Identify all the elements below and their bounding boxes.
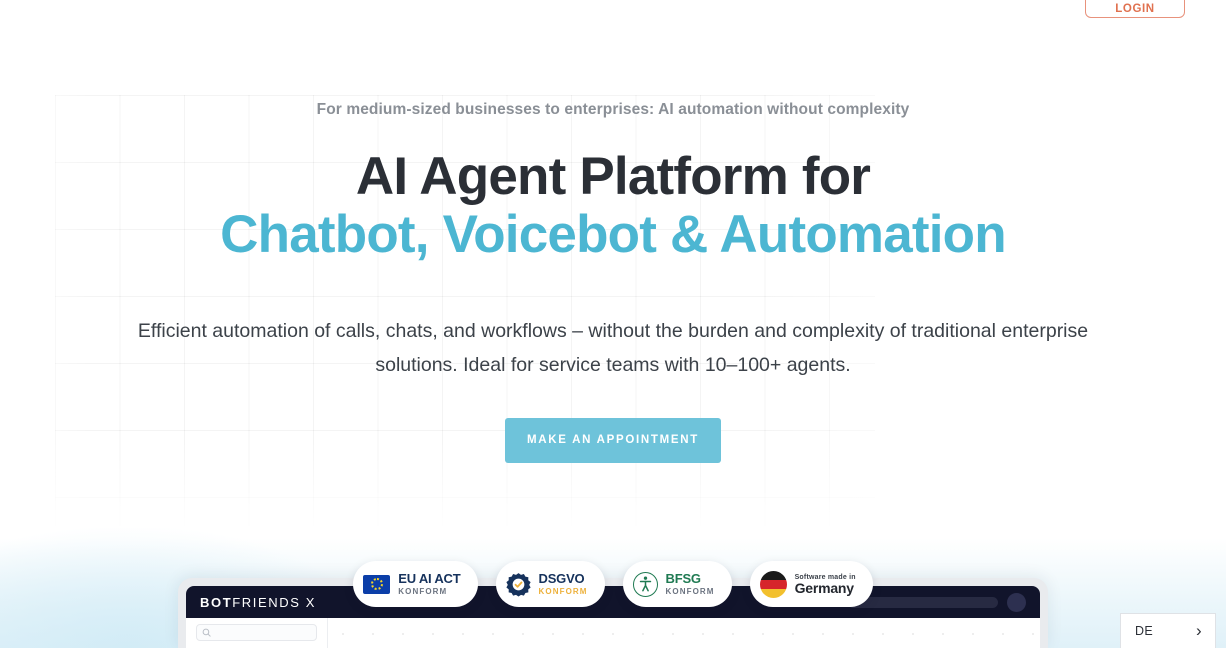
- mockup-body: [186, 618, 1040, 648]
- page-root: LOGIN For medium-sized businesses to ent…: [0, 0, 1226, 648]
- search-icon: [202, 628, 211, 637]
- badge-eu-ai-act: EU AI ACT KONFORM: [353, 561, 477, 607]
- accessibility-icon: [633, 572, 658, 597]
- badge-eu-ai-act-subtitle: KONFORM: [398, 588, 460, 596]
- language-switcher-label: DE: [1135, 624, 1153, 638]
- badge-made-in-germany: Software made in Germany: [750, 561, 873, 607]
- badge-bfsg-title: BFSG: [666, 572, 715, 586]
- mockup-canvas-dots: [328, 626, 1040, 648]
- headline-line-1: AI Agent Platform for: [356, 147, 870, 206]
- certification-badges: EU AI ACT KONFORM DSGVO KONFORM: [0, 561, 1226, 607]
- badge-bfsg: BFSG KONFORM: [623, 561, 732, 607]
- badge-dsgvo: DSGVO KONFORM: [496, 561, 605, 607]
- login-button-label: LOGIN: [1115, 3, 1154, 15]
- mockup-canvas: [328, 618, 1040, 648]
- gear-check-icon: [506, 572, 531, 597]
- badge-dsgvo-texts: DSGVO KONFORM: [539, 572, 588, 596]
- chevron-right-icon: ›: [1196, 621, 1202, 641]
- headline-line-2: Chatbot, Voicebot & Automation: [0, 206, 1226, 264]
- eu-flag-icon: [363, 575, 390, 594]
- badge-dsgvo-subtitle: KONFORM: [539, 588, 588, 596]
- hero-eyebrow: For medium-sized businesses to enterpris…: [0, 101, 1226, 119]
- mockup-search-input: [196, 624, 317, 641]
- page-title: AI Agent Platform for Chatbot, Voicebot …: [0, 148, 1226, 264]
- mockup-sidebar: [186, 618, 328, 648]
- badge-made-in-germany-title: Germany: [795, 581, 856, 596]
- badge-eu-ai-act-texts: EU AI ACT KONFORM: [398, 572, 460, 596]
- make-appointment-button[interactable]: MAKE AN APPOINTMENT: [505, 418, 721, 463]
- cta-container: MAKE AN APPOINTMENT: [0, 418, 1226, 463]
- german-flag-icon: [760, 571, 787, 598]
- badge-made-in-germany-texts: Software made in Germany: [795, 572, 856, 596]
- language-switcher[interactable]: DE ›: [1120, 613, 1216, 648]
- badge-bfsg-subtitle: KONFORM: [666, 588, 715, 596]
- hero-section: For medium-sized businesses to enterpris…: [0, 0, 1226, 463]
- badge-eu-ai-act-title: EU AI ACT: [398, 572, 460, 586]
- badge-bfsg-texts: BFSG KONFORM: [666, 572, 715, 596]
- login-button[interactable]: LOGIN: [1085, 0, 1185, 18]
- hero-subtitle: Efficient automation of calls, chats, an…: [123, 314, 1103, 382]
- badge-dsgvo-title: DSGVO: [539, 572, 588, 586]
